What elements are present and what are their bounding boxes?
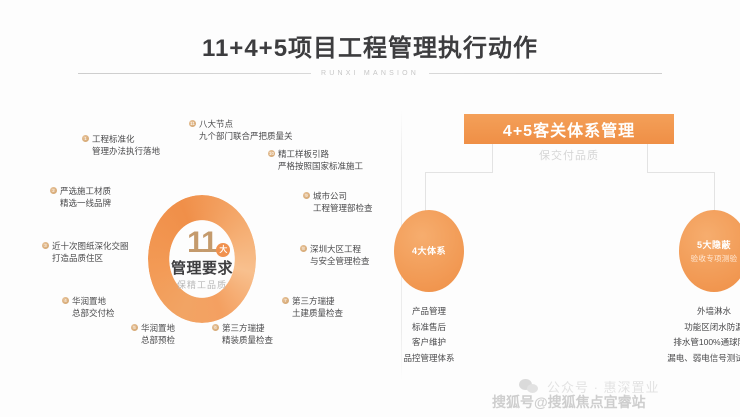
node-bullet-icon: 1 <box>82 135 89 142</box>
node-bullet-icon: 5 <box>131 324 138 331</box>
connector-bar-right <box>647 172 715 173</box>
left-node-9: 9城市公司 工程管理部检查 <box>303 190 373 215</box>
node-line2: 打造品质住区 <box>42 252 129 264</box>
node-line2: 严格按照国家标准施工 <box>268 160 363 172</box>
right-banner-subtitle: 保交付品质 <box>464 147 674 163</box>
node-line1: 工程标准化 <box>92 134 135 144</box>
node-line1: 第三方瑞捷 <box>222 323 265 333</box>
node-line2: 与安全管理检查 <box>300 255 370 267</box>
center-number-badge: 大 <box>216 243 230 257</box>
page-title: 11+4+5项目工程管理执行动作 <box>0 28 740 63</box>
left-node-5: 5华润置地 总部预检 <box>131 322 175 347</box>
center-number-wrap: 11 大 <box>187 228 217 258</box>
center-number: 11 <box>187 226 217 259</box>
node-bullet-icon: 8 <box>300 245 307 252</box>
node-line1: 华润置地 <box>141 323 175 333</box>
node-line2: 精装质量检查 <box>212 334 273 346</box>
list-item: 客户维护 <box>369 335 489 351</box>
node-bullet-icon: 3 <box>42 242 49 249</box>
left-node-1: 1工程标准化 管理办法执行落地 <box>82 133 160 158</box>
list-item: 标准售后 <box>369 320 489 336</box>
node-bullet-icon: 2 <box>50 187 57 194</box>
title-divider-row: RUNXI MANSION <box>78 70 662 77</box>
node-line1: 八大节点 <box>199 119 233 129</box>
slide-canvas: 11+4+5项目工程管理执行动作 RUNXI MANSION 11 大 管理要求… <box>0 0 740 417</box>
node-line1: 城市公司 <box>313 191 347 201</box>
node-line2: 总部预检 <box>131 334 175 346</box>
list-item: 品控管理体系 <box>369 351 489 367</box>
node-line2: 精选一线品牌 <box>50 197 111 209</box>
list-item: 功能区闭水防漏 <box>634 320 740 336</box>
list-item: 漏电、弱电信号测试防碰 <box>634 351 740 367</box>
node-bullet-icon: 7 <box>282 297 289 304</box>
left-node-7: 7第三方瑞捷 土建质量检查 <box>282 295 343 320</box>
branch-circle-2-title: 5大隐蔽 <box>697 238 731 251</box>
branch-circle-1-title: 4大体系 <box>412 244 446 257</box>
node-line1: 华润置地 <box>72 296 106 306</box>
node-line2: 九个部门联合严把质量关 <box>189 130 293 142</box>
list-item: 产品管理 <box>369 304 489 320</box>
connector-stem-right <box>647 144 648 172</box>
left-node-3: 3近十次图纸深化交圈 打造品质住区 <box>42 240 129 265</box>
node-line1: 近十次图纸深化交圈 <box>52 241 129 251</box>
left-diagram-panel: 11 大 管理要求 保精工品质 1工程标准化 管理办法执行落地 2严选施工材质 … <box>0 100 400 400</box>
left-node-11: 11八大节点 九个部门联合严把质量关 <box>189 118 293 143</box>
left-node-8: 8深圳大区工程 与安全管理检查 <box>300 243 370 268</box>
branch-circle-2-subtitle: 验收专项测验 <box>691 253 738 264</box>
node-bullet-icon: 11 <box>189 120 196 127</box>
left-node-6: 6第三方瑞捷 精装质量检查 <box>212 322 273 347</box>
brand-subtitle: RUNXI MANSION <box>321 70 419 77</box>
node-bullet-icon: 4 <box>62 297 69 304</box>
branch-circle-1: 4大体系 <box>394 210 464 292</box>
node-line1: 第三方瑞捷 <box>292 296 335 306</box>
branch-list-2: 外墙淋水 功能区闭水防漏 排水管100%通球防堵 漏电、弱电信号测试防碰 <box>634 304 740 367</box>
node-line2: 土建质量检查 <box>282 307 343 319</box>
right-banner: 4+5客关体系管理 <box>464 114 674 144</box>
node-bullet-icon: 6 <box>212 324 219 331</box>
connector-bar-left <box>425 172 493 173</box>
connector-stem-left <box>492 144 493 172</box>
divider-line-left <box>78 73 311 74</box>
node-bullet-icon: 10 <box>268 150 275 157</box>
node-line2: 工程管理部检查 <box>303 202 373 214</box>
right-diagram-panel: 4+5客关体系管理 保交付品质 4大体系 产品管理 标准售后 客户维护 品控管理… <box>401 100 740 400</box>
branch-circle-2: 5大隐蔽 验收专项测验 <box>679 210 740 292</box>
left-node-2: 2严选施工材质 精选一线品牌 <box>50 185 111 210</box>
donut-center: 11 大 管理要求 保精工品质 <box>148 195 256 323</box>
center-subtitle: 保精工品质 <box>177 281 227 290</box>
center-title: 管理要求 <box>171 261 233 276</box>
node-line1: 深圳大区工程 <box>310 244 361 254</box>
list-item: 外墙淋水 <box>634 304 740 320</box>
node-line2: 管理办法执行落地 <box>82 145 160 157</box>
sohu-watermark: 搜狐号@搜狐焦点宜睿站 <box>492 392 646 412</box>
node-line2: 总部交付检 <box>62 307 115 319</box>
left-node-4: 4华润置地 总部交付检 <box>62 295 115 320</box>
divider-line-right <box>429 73 662 74</box>
node-bullet-icon: 9 <box>303 192 310 199</box>
left-node-10: 10精工样板引路 严格按照国家标准施工 <box>268 148 363 173</box>
node-line1: 严选施工材质 <box>60 186 111 196</box>
list-item: 排水管100%通球防堵 <box>634 335 740 351</box>
branch-list-1: 产品管理 标准售后 客户维护 品控管理体系 <box>369 304 489 367</box>
node-line1: 精工样板引路 <box>278 149 329 159</box>
